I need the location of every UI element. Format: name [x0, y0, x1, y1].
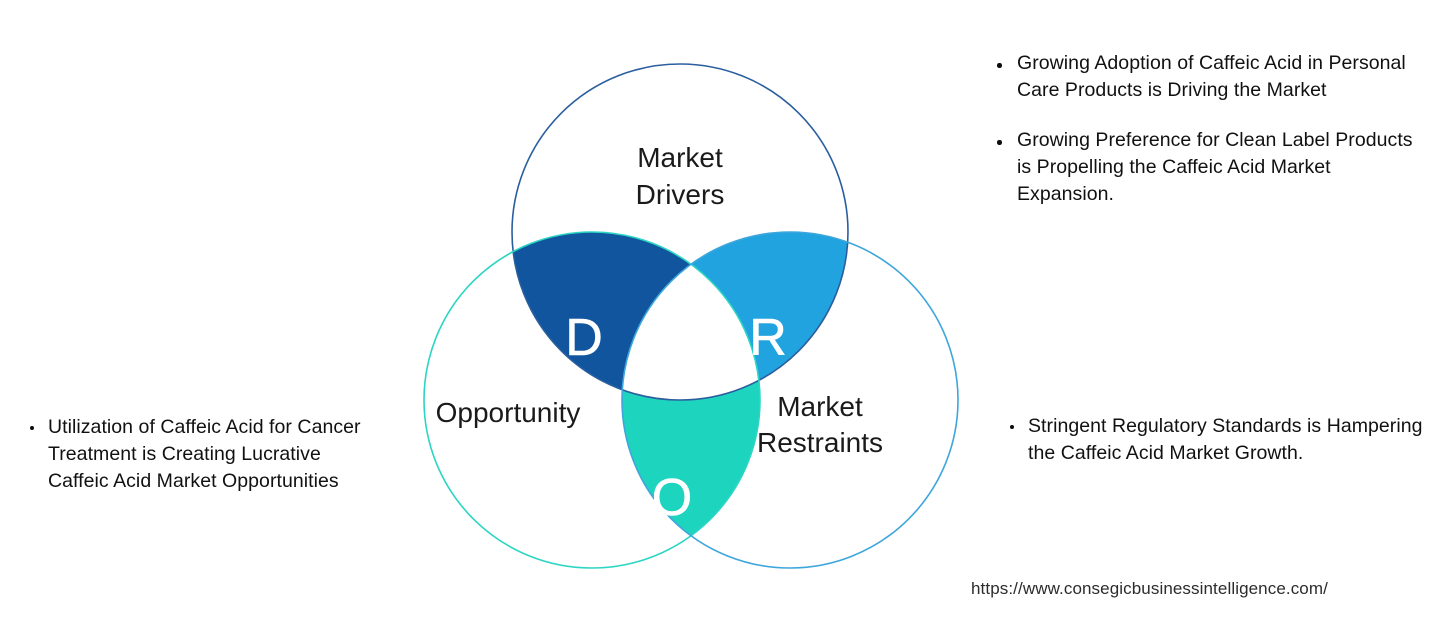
label-market-restraints-line2: Restraints [757, 427, 883, 458]
label-market-drivers-line2: Drivers [636, 179, 725, 210]
list-item-text: Stringent Regulatory Standards is Hamper… [1028, 415, 1423, 464]
letter-r: R [749, 309, 787, 367]
list-item: Utilization of Caffeic Acid for Cancer T… [28, 414, 373, 495]
source-url[interactable]: https://www.consegicbusinessintelligence… [971, 578, 1328, 600]
venn-diagram-page: Market Drivers Opportunity Market Restra… [0, 0, 1453, 643]
list-item-text: Utilization of Caffeic Acid for Cancer T… [48, 416, 361, 492]
callout-market-drivers: Growing Adoption of Caffeic Acid in Pers… [993, 50, 1425, 208]
letter-o: O [652, 469, 692, 527]
label-market-drivers-line1: Market [637, 142, 723, 173]
bullet-dot-icon [1010, 425, 1014, 429]
bullet-dot-icon [997, 140, 1002, 145]
callout-opportunity: Utilization of Caffeic Acid for Cancer T… [28, 414, 373, 495]
label-opportunity: Opportunity [436, 397, 581, 428]
list-item: Stringent Regulatory Standards is Hamper… [1008, 413, 1428, 467]
list-item-text: Growing Adoption of Caffeic Acid in Pers… [1017, 52, 1406, 101]
callout-market-restraints: Stringent Regulatory Standards is Hamper… [1008, 413, 1428, 467]
venn-diagram: Market Drivers Opportunity Market Restra… [370, 40, 990, 580]
label-market-restraints-line1: Market [777, 391, 863, 422]
venn-svg: Market Drivers Opportunity Market Restra… [370, 40, 990, 580]
list-item: Growing Preference for Clean Label Produ… [993, 127, 1425, 208]
bullet-dot-icon [30, 426, 34, 430]
list-item-text: Growing Preference for Clean Label Produ… [1017, 129, 1413, 205]
bullet-dot-icon [997, 63, 1002, 68]
opportunity-bullet-list: Utilization of Caffeic Acid for Cancer T… [28, 414, 373, 495]
list-item: Growing Adoption of Caffeic Acid in Pers… [993, 50, 1425, 104]
drivers-bullet-list: Growing Adoption of Caffeic Acid in Pers… [993, 50, 1425, 208]
letter-d: D [565, 309, 603, 367]
restraints-bullet-list: Stringent Regulatory Standards is Hamper… [1008, 413, 1428, 467]
